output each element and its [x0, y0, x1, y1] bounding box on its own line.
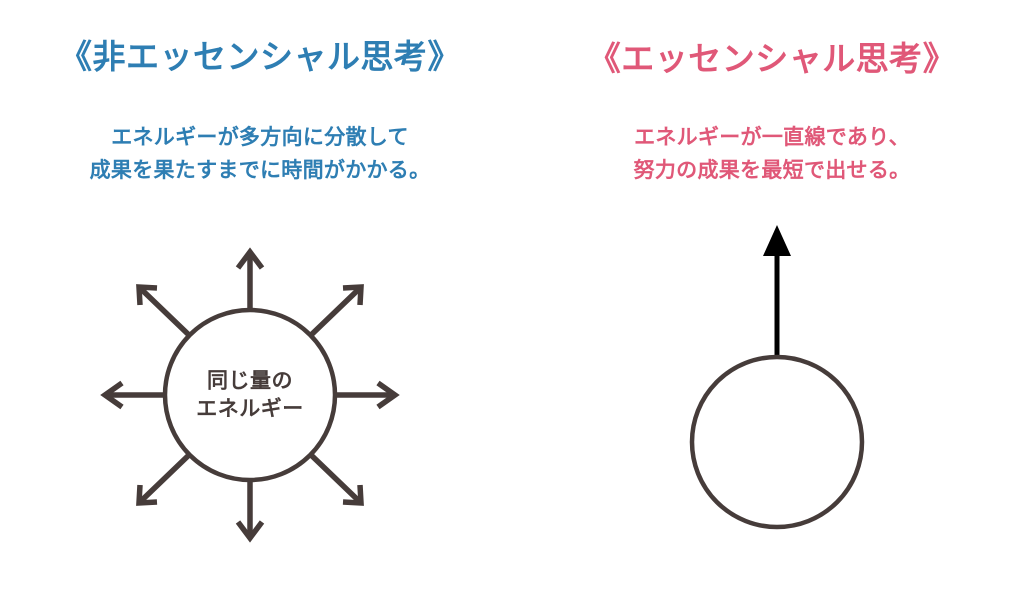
panel-non-essential: 《非エッセンシャル思考》 エネルギーが多方向に分散して 成果を果たすまでに時間が… [0, 0, 520, 597]
arrow-right-icon [335, 383, 395, 407]
energy-circle-label-line-1: 同じ量の [196, 367, 304, 395]
arrow-down-right-icon [310, 454, 361, 503]
scattered-energy-svg [0, 0, 520, 597]
panel-essential-subtitle: エネルギーが一直線であり、 努力の成果を最短で出せる。 [520, 122, 1024, 187]
arrow-down-left-icon [139, 454, 190, 503]
energy-circle [692, 357, 862, 527]
subtitle-line-1: エネルギーが一直線であり、 [520, 122, 1024, 155]
diagram-canvas: 《非エッセンシャル思考》 エネルギーが多方向に分散して 成果を果たすまでに時間が… [0, 0, 1024, 597]
focused-energy-diagram [520, 0, 1024, 597]
focused-energy-svg [520, 0, 1024, 597]
arrow-up-icon [763, 225, 791, 358]
arrow-up-right-icon [310, 287, 361, 336]
panel-essential-heading: 《エッセンシャル思考》 [520, 40, 1024, 78]
subtitle-line-2: 努力の成果を最短で出せる。 [520, 155, 1024, 188]
subtitle-line-1: エネルギーが多方向に分散して [0, 122, 520, 155]
scattered-energy-diagram [0, 0, 520, 597]
arrow-up-left-icon [139, 287, 190, 336]
energy-circle-label-line-2: エネルギー [196, 395, 304, 423]
panel-non-essential-heading: 《非エッセンシャル思考》 [0, 38, 520, 76]
energy-circle-label: 同じ量の エネルギー [196, 367, 304, 422]
arrow-down-icon [238, 472, 262, 538]
arrow-left-icon [105, 383, 165, 407]
panel-non-essential-subtitle: エネルギーが多方向に分散して 成果を果たすまでに時間がかかる。 [0, 122, 520, 187]
panel-essential: 《エッセンシャル思考》 エネルギーが一直線であり、 努力の成果を最短で出せる。 … [520, 0, 1024, 597]
subtitle-line-2: 成果を果たすまでに時間がかかる。 [0, 155, 520, 188]
arrow-up-icon [238, 252, 262, 318]
